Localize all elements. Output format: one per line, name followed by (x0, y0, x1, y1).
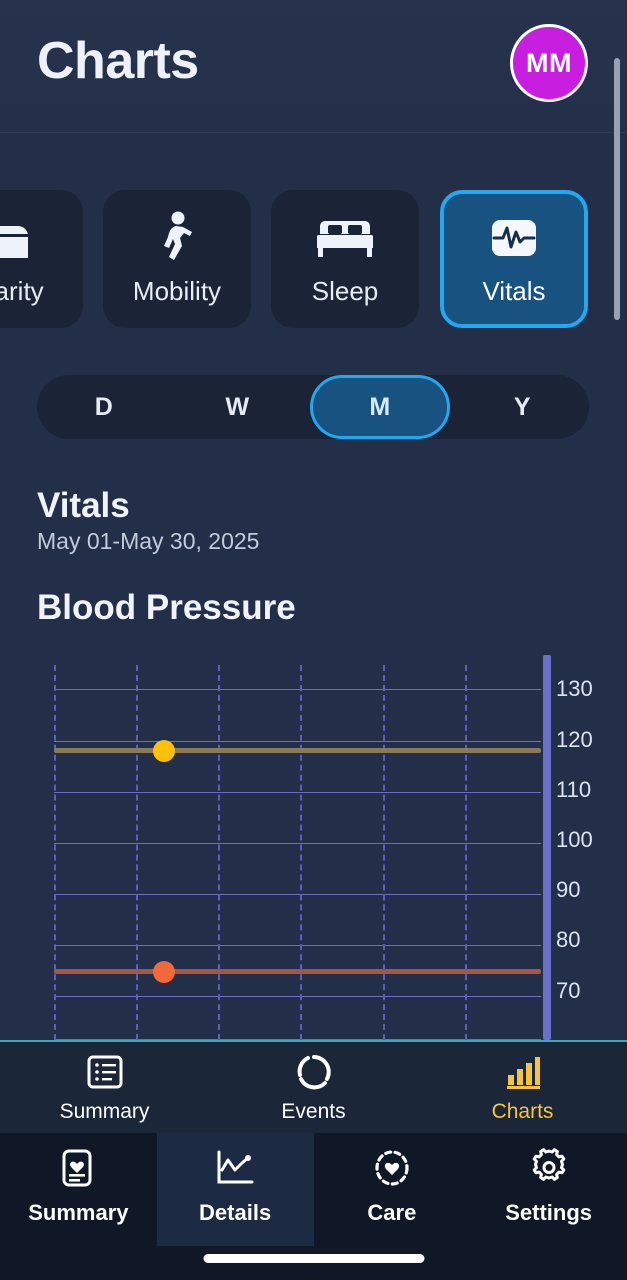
nav-item-care[interactable]: Care (314, 1133, 471, 1246)
gridline-v-1 (136, 665, 138, 1040)
tab-summary[interactable]: Summary (0, 1052, 209, 1124)
y-tick-80: 80 (556, 927, 580, 953)
y-tick-90: 90 (556, 877, 580, 903)
y-axis-spine (543, 655, 551, 1040)
nav-item-details[interactable]: Details (157, 1133, 314, 1246)
secondary-tab-bar[interactable]: Summary Events (0, 1040, 627, 1133)
home-indicator[interactable] (203, 1254, 424, 1263)
broken-circle-icon (294, 1052, 334, 1092)
gridline-v-0 (54, 665, 56, 1040)
gear-icon (527, 1147, 571, 1191)
period-option-y[interactable]: Y (456, 375, 590, 439)
y-tick-70: 70 (556, 978, 580, 1004)
gridline-v-2 (218, 665, 220, 1040)
avatar-initials: MM (526, 48, 572, 79)
bar-chart-icon (503, 1052, 543, 1092)
nav-item-summary[interactable]: Summary (0, 1133, 157, 1246)
category-label: Mobility (133, 276, 221, 307)
list-document-icon (85, 1052, 125, 1092)
chart-plot-area (54, 665, 541, 1040)
walking-person-icon (149, 211, 205, 265)
y-tick-100: 100 (556, 827, 593, 853)
category-card-mobility[interactable]: Mobility (103, 190, 251, 328)
systolic-data-point[interactable] (153, 740, 175, 762)
gridline-h-130 (54, 689, 541, 690)
category-card-vitals[interactable]: Vitals (440, 190, 588, 328)
app-screen: Charts MM ularity Mobility (0, 0, 627, 1280)
nav-item-settings[interactable]: Settings (470, 1133, 627, 1246)
blood-pressure-chart[interactable] (0, 655, 627, 1040)
tab-label: Summary (60, 1100, 150, 1124)
gridline-h-120 (54, 741, 541, 742)
dashed-heart-icon (370, 1147, 414, 1191)
y-tick-120: 120 (556, 727, 593, 753)
y-tick-130: 130 (556, 676, 593, 702)
calendar-icon (0, 211, 37, 265)
gridline-v-3 (300, 665, 302, 1040)
line-chart-icon (213, 1147, 257, 1191)
systolic-line (54, 748, 541, 753)
nav-label: Summary (28, 1200, 128, 1226)
section-date-range: May 01-May 30, 2025 (37, 528, 259, 555)
heart-document-icon (56, 1147, 100, 1191)
category-label: Sleep (312, 276, 379, 307)
avatar[interactable]: MM (510, 24, 588, 102)
bed-icon (317, 211, 373, 265)
category-label: ularity (0, 276, 44, 307)
gridline-v-4 (383, 665, 385, 1040)
section-title: Vitals (37, 486, 130, 526)
tab-charts[interactable]: Charts (418, 1052, 627, 1124)
y-tick-110: 110 (556, 777, 591, 803)
tab-label: Charts (492, 1100, 554, 1124)
gridline-h-90 (54, 894, 541, 895)
tab-events[interactable]: Events (209, 1052, 418, 1124)
gridline-h-110 (54, 792, 541, 793)
gridline-h-100 (54, 843, 541, 844)
nav-label: Care (367, 1200, 416, 1226)
chart-title: Blood Pressure (37, 588, 296, 628)
period-option-d[interactable]: D (37, 375, 171, 439)
category-label: Vitals (482, 276, 545, 307)
period-option-m[interactable]: M (310, 375, 450, 439)
gridline-h-80 (54, 945, 541, 946)
category-card-regularity[interactable]: ularity (0, 190, 83, 328)
gridline-v-5 (465, 665, 467, 1040)
diastolic-line (54, 969, 541, 974)
diastolic-data-point[interactable] (153, 961, 175, 983)
category-card-strip[interactable]: ularity Mobility (0, 190, 627, 328)
gridline-h-70 (54, 996, 541, 997)
ecg-waveform-icon (486, 211, 542, 265)
nav-label: Details (199, 1200, 271, 1226)
nav-label: Settings (505, 1200, 592, 1226)
app-header: Charts MM (0, 0, 627, 133)
bottom-navigation[interactable]: Summary Details Care (0, 1133, 627, 1280)
period-selector[interactable]: D W M Y (37, 375, 589, 439)
category-card-sleep[interactable]: Sleep (271, 190, 419, 328)
period-option-w[interactable]: W (171, 375, 305, 439)
tab-label: Events (281, 1100, 345, 1124)
page-title: Charts (37, 31, 199, 91)
